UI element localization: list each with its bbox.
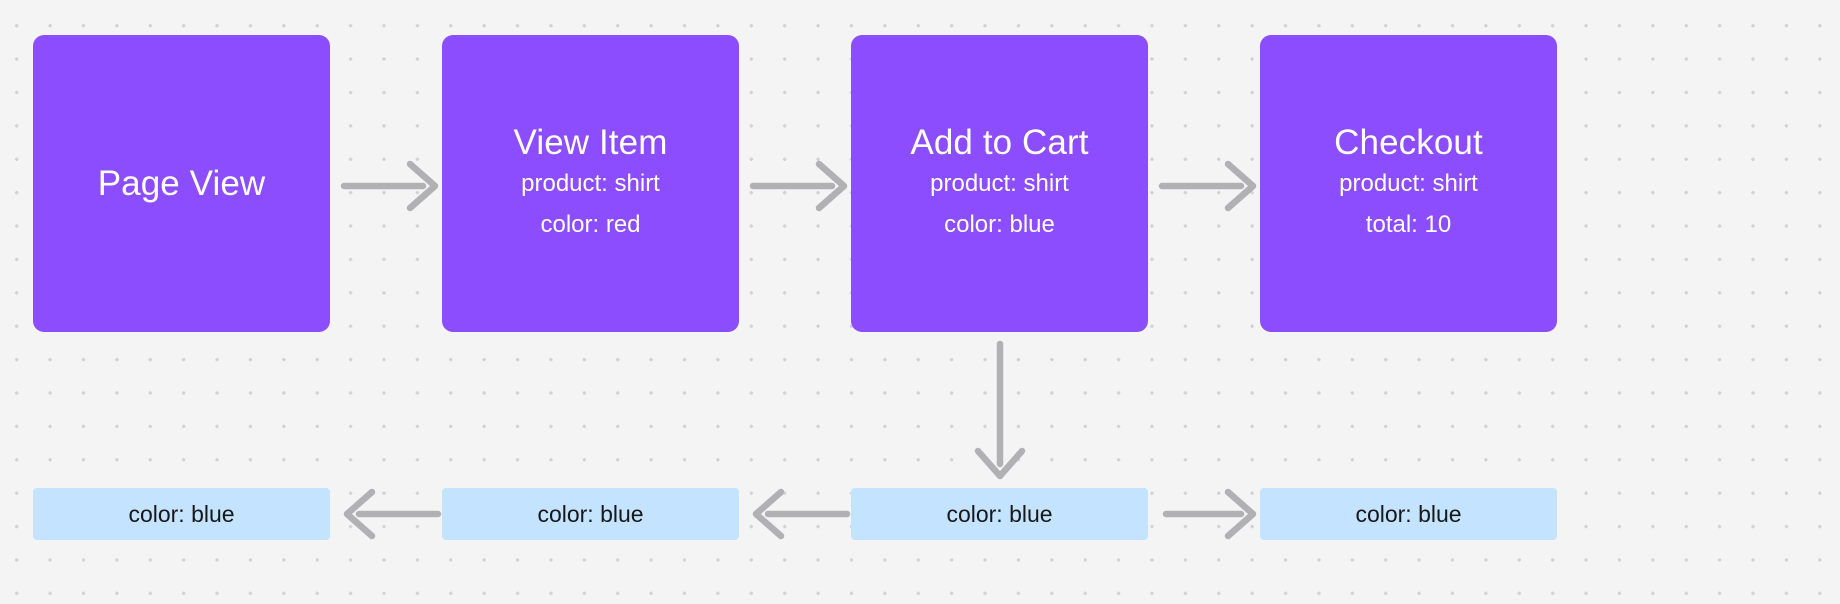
event-node-property: product: shirt (521, 163, 660, 204)
event-node-property: color: blue (944, 204, 1055, 245)
flow-canvas[interactable]: Page View View Item product: shirt color… (0, 0, 1840, 604)
property-node-4[interactable]: color: blue (1260, 488, 1557, 540)
property-node-label: color: blue (946, 503, 1052, 526)
property-node-2[interactable]: color: blue (442, 488, 739, 540)
arrowhead-left-icon (756, 492, 781, 536)
event-node-view-item[interactable]: View Item product: shirt color: red (442, 35, 739, 332)
event-node-title: Add to Cart (910, 122, 1088, 163)
event-node-property: total: 10 (1366, 204, 1451, 245)
edge-arrow-property-node-3-to-property-node-4 (1158, 483, 1260, 545)
event-node-property: color: red (540, 204, 640, 245)
event-node-checkout[interactable]: Checkout product: shirt total: 10 (1260, 35, 1557, 332)
event-node-add-to-cart[interactable]: Add to Cart product: shirt color: blue (851, 35, 1148, 332)
event-node-title: Checkout (1334, 122, 1483, 163)
event-node-title: Page View (98, 163, 266, 204)
event-node-title: View Item (514, 122, 668, 163)
edge-arrow-view-item-to-add-to-cart (749, 155, 851, 217)
edge-arrow-page-view-to-view-item (340, 155, 442, 217)
event-node-property: product: shirt (1339, 163, 1478, 204)
event-node-property: product: shirt (930, 163, 1069, 204)
edge-arrow-property-node-2-to-property-node-1 (340, 483, 442, 545)
arrowhead-left-icon (347, 492, 372, 536)
event-node-page-view[interactable]: Page View (33, 35, 330, 332)
arrowhead-right-icon (819, 164, 844, 208)
arrowhead-right-icon (1228, 492, 1253, 536)
property-node-label: color: blue (1355, 503, 1461, 526)
property-node-label: color: blue (537, 503, 643, 526)
edge-arrow-add-to-cart-to-checkout (1158, 155, 1260, 217)
arrowhead-right-icon (1228, 164, 1253, 208)
property-node-1[interactable]: color: blue (33, 488, 330, 540)
edge-arrow-add-to-cart-to-property-node-3 (969, 340, 1031, 482)
property-node-3[interactable]: color: blue (851, 488, 1148, 540)
arrowhead-right-icon (410, 164, 435, 208)
arrowhead-down-icon (978, 451, 1022, 476)
edge-arrow-property-node-3-to-property-node-2 (749, 483, 851, 545)
property-node-label: color: blue (128, 503, 234, 526)
